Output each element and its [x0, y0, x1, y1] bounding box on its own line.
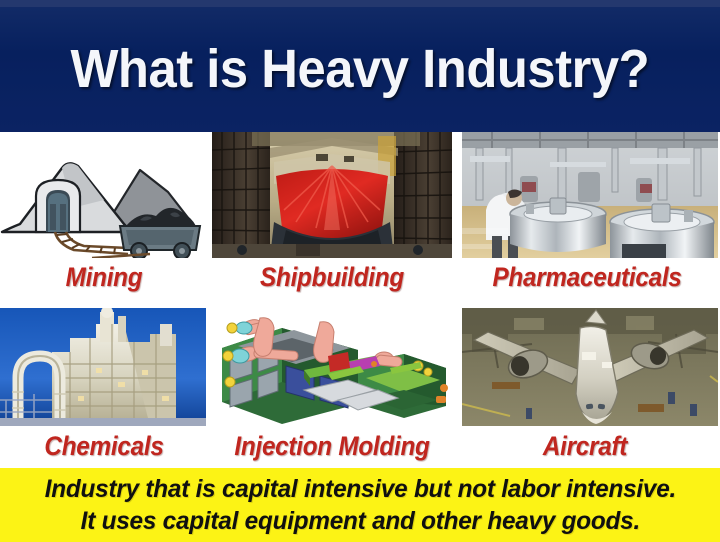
industry-label-shipbuilding: Shipbuilding — [224, 264, 440, 291]
industry-label-aircraft: Aircraft — [469, 433, 701, 460]
chemicals-photo — [0, 308, 206, 426]
industry-label-pharmaceuticals: Pharmaceuticals — [471, 264, 703, 291]
page-title: What is Heavy Industry? — [71, 42, 650, 96]
industry-cell-pharmaceuticals[interactable]: Pharmaceuticals — [462, 132, 720, 300]
industry-cell-mining[interactable]: Mining — [0, 132, 208, 300]
industry-label-injection-molding: Injection Molding — [220, 433, 443, 460]
industry-cell-injection-molding[interactable]: Injection Molding — [208, 300, 456, 468]
industry-label-chemicals: Chemicals — [10, 433, 197, 460]
aircraft-photo — [462, 308, 718, 426]
industry-cell-chemicals[interactable]: Chemicals — [0, 300, 208, 468]
heavy-industry-infographic: What is Heavy Industry? — [0, 0, 720, 542]
injection-molding-render — [208, 306, 456, 426]
industry-row-2: Chemicals — [0, 300, 720, 468]
pharmaceuticals-photo — [462, 132, 718, 258]
industry-label-mining: Mining — [10, 264, 197, 291]
caption-bar: Industry that is capital intensive but n… — [0, 468, 720, 542]
industry-cell-shipbuilding[interactable]: Shipbuilding — [212, 132, 452, 300]
title-bar: What is Heavy Industry? — [0, 0, 720, 132]
industry-cell-aircraft[interactable]: Aircraft — [462, 300, 720, 468]
mining-illustration — [0, 132, 208, 258]
industry-grid: Mining — [0, 132, 720, 468]
caption-line-2: It uses capital equipment and other heav… — [80, 505, 639, 537]
caption-line-1: Industry that is capital intensive but n… — [44, 473, 675, 505]
shipbuilding-photo — [212, 132, 452, 258]
industry-row-1: Mining — [0, 132, 720, 300]
